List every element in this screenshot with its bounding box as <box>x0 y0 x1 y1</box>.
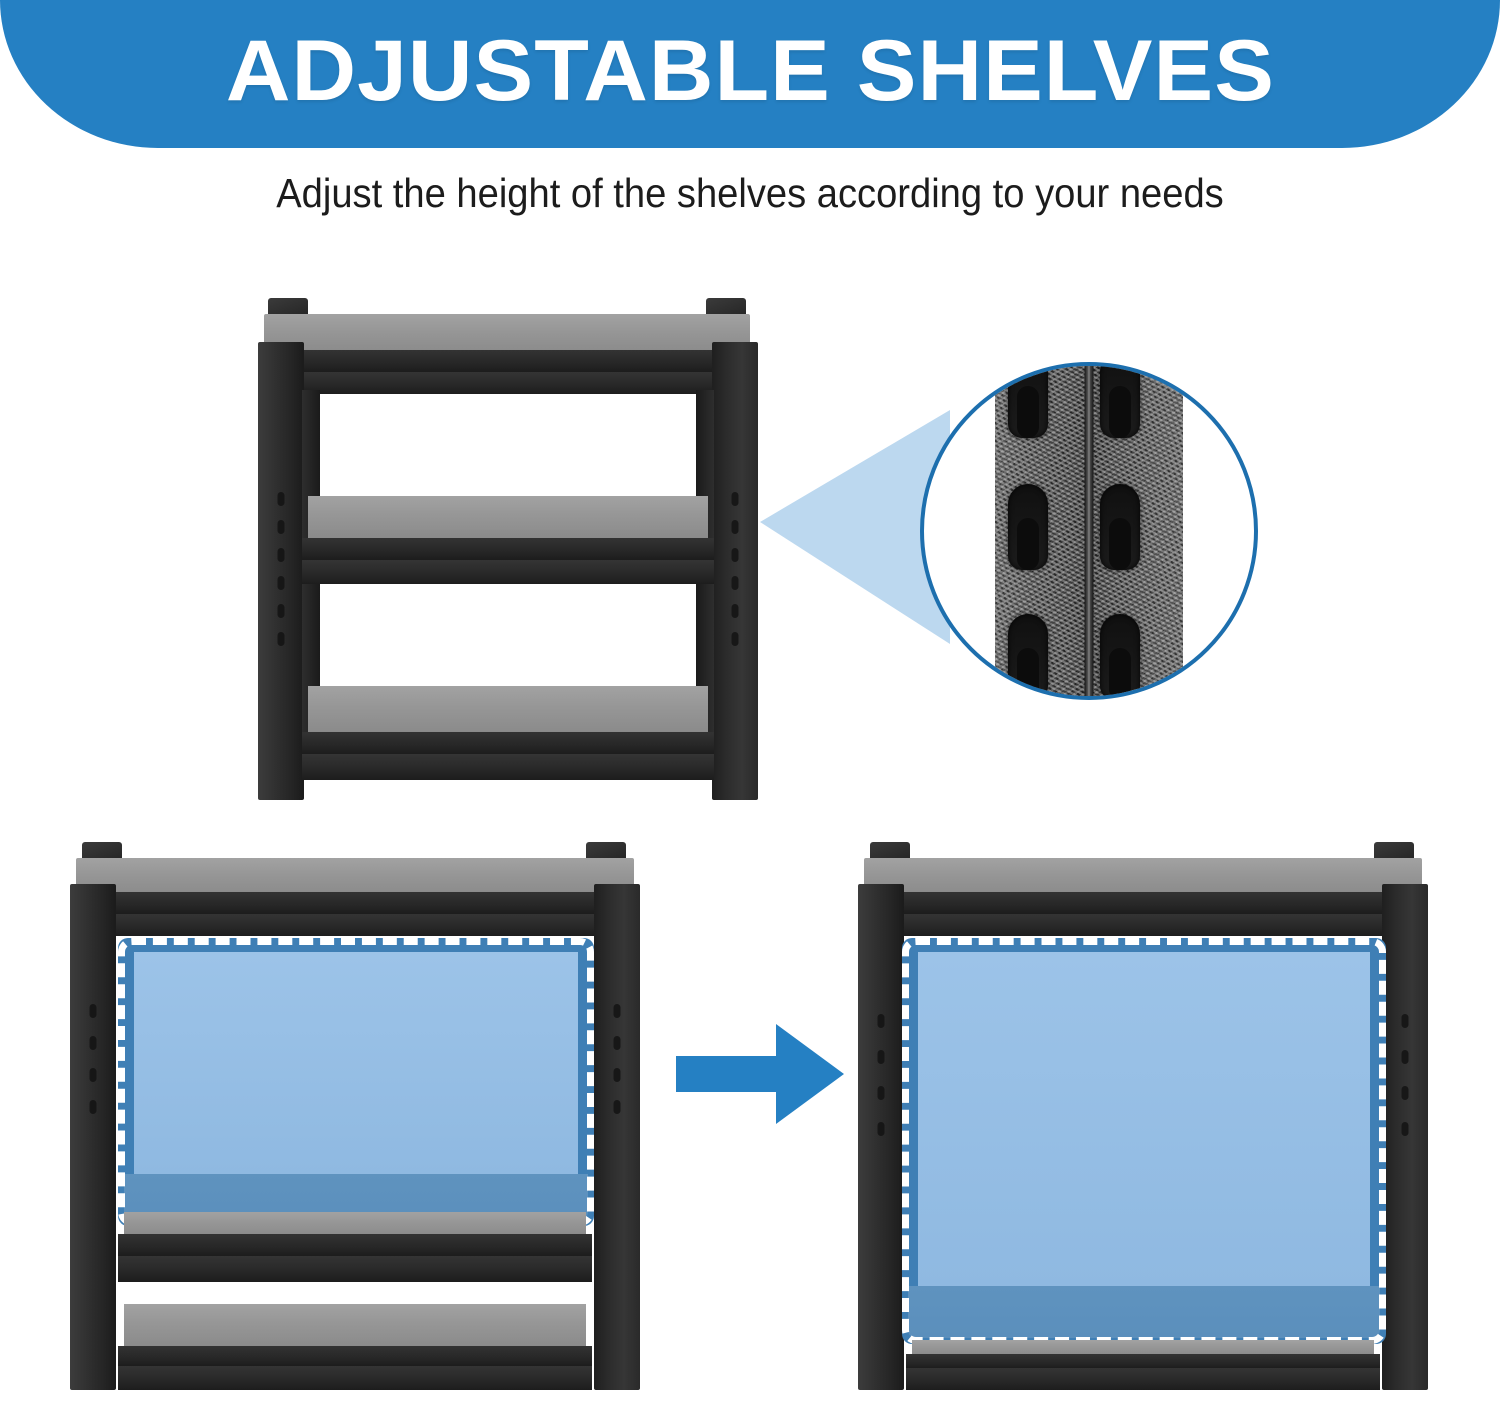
top-shelf-surface <box>864 858 1422 896</box>
right-upright-post <box>712 342 758 800</box>
top-shelf-surface <box>264 314 750 354</box>
header-banner: ADJUSTABLE SHELVES <box>0 0 1500 148</box>
middle-shelf-surface <box>124 1212 586 1236</box>
transform-arrow <box>672 1018 848 1130</box>
shelf-after-adjustment <box>858 842 1428 1390</box>
keyhole-slot <box>1100 614 1140 700</box>
post-center-seam <box>1085 366 1094 696</box>
keyhole-slot <box>1008 484 1048 570</box>
keyhole-slot <box>1008 362 1048 438</box>
highlighted-storage-space <box>118 938 594 1226</box>
right-upright-post <box>1382 884 1428 1390</box>
bottom-shelf-surface <box>308 686 708 734</box>
bottom-beam <box>302 754 714 780</box>
middle-beam <box>302 560 714 584</box>
highlight-dashed-outline <box>902 938 1386 1344</box>
left-upright-post <box>70 884 116 1390</box>
top-shelf-front-edge <box>276 350 738 374</box>
bottom-beam <box>906 1368 1380 1390</box>
page-title: ADJUSTABLE SHELVES <box>225 28 1274 114</box>
arrow-right-icon <box>672 1018 848 1130</box>
slotted-post-magnifier <box>920 362 1250 692</box>
top-shelf-front-edge <box>878 892 1408 916</box>
highlighted-storage-space <box>902 938 1386 1344</box>
bottom-shelf-surface <box>124 1304 586 1348</box>
middle-beam <box>118 1256 592 1282</box>
middle-shelf-front-edge <box>302 538 714 562</box>
magnifier-circle <box>920 362 1258 700</box>
keyhole-slot <box>1100 484 1140 570</box>
page-subtitle: Adjust the height of the shelves accordi… <box>53 170 1448 217</box>
left-upright-post <box>258 342 304 800</box>
bottom-shelf-front-edge <box>302 732 714 756</box>
top-beam <box>280 372 732 394</box>
top-shelf-surface <box>76 858 634 896</box>
keyhole-slot <box>1008 614 1048 700</box>
bottom-shelf-front-edge <box>118 1346 592 1368</box>
middle-shelf-surface <box>308 496 708 540</box>
shelf-before-adjustment <box>70 842 640 1390</box>
top-beam <box>884 914 1402 936</box>
top-shelf-front-edge <box>90 892 620 916</box>
keyhole-slot <box>1100 362 1140 438</box>
bottom-beam <box>118 1366 592 1390</box>
top-beam <box>96 914 614 936</box>
right-upright-post <box>594 884 640 1390</box>
highlight-dashed-outline <box>118 938 594 1226</box>
middle-shelf-front-edge <box>118 1234 592 1258</box>
three-tier-shelf-unit <box>258 298 758 800</box>
left-upright-post <box>858 884 904 1390</box>
